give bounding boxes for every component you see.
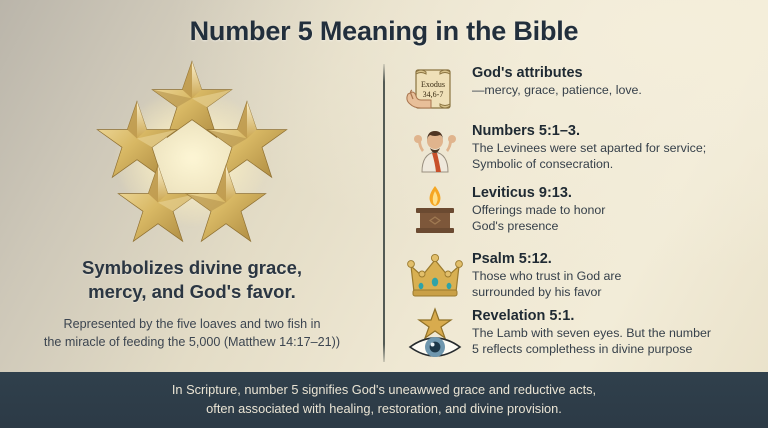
footer-text: In Scripture, number 5 signifies God's u… bbox=[112, 381, 656, 418]
left-caption-main: Symbolizes divine grace, mercy, and God'… bbox=[18, 256, 366, 305]
left-caption-sub: Represented by the five loaves and two f… bbox=[14, 316, 370, 352]
hand-holding-scroll-icon: Exodus 34,6-7 bbox=[404, 64, 466, 118]
star-over-eye-icon bbox=[404, 307, 466, 361]
svg-text:34,6-7: 34,6-7 bbox=[423, 90, 444, 99]
entry-desc: Offerings made to honor God's presence bbox=[472, 203, 605, 235]
entry-text: Revelation 5:1. The Lamb with seven eyes… bbox=[472, 307, 711, 358]
entry-desc: Those who trust in God are surrounded by… bbox=[472, 269, 621, 301]
list-item: Psalm 5:12. Those who trust in God are s… bbox=[404, 250, 621, 304]
robed-figure-raised-hands-icon bbox=[404, 122, 466, 176]
left-column: Symbolizes divine grace, mercy, and God'… bbox=[0, 58, 383, 363]
entry-title: Revelation 5:1. bbox=[472, 308, 711, 325]
star-lower-right bbox=[181, 162, 269, 250]
entry-title: God's attributes bbox=[472, 65, 642, 82]
entry-text: Numbers 5:1–3. The Levinees were set apa… bbox=[472, 122, 706, 173]
footer-banner: In Scripture, number 5 signifies God's u… bbox=[0, 372, 768, 428]
infographic-canvas: Number 5 Meaning in the Bible bbox=[0, 0, 768, 428]
list-item: Revelation 5:1. The Lamb with seven eyes… bbox=[404, 307, 711, 361]
entry-title: Numbers 5:1–3. bbox=[472, 123, 706, 140]
svg-text:Exodus: Exodus bbox=[421, 80, 445, 89]
list-item: Exodus 34,6-7 God's attributes —mercy, g… bbox=[404, 64, 642, 118]
altar-with-flame-icon bbox=[404, 184, 466, 238]
page-title: Number 5 Meaning in the Bible bbox=[0, 16, 768, 47]
entry-title: Psalm 5:12. bbox=[472, 251, 621, 268]
list-item: Numbers 5:1–3. The Levinees were set apa… bbox=[404, 122, 706, 176]
entry-desc: —mercy, grace, patience, love. bbox=[472, 83, 642, 99]
entry-desc: The Levinees were set aparted for servic… bbox=[472, 141, 706, 173]
column-divider bbox=[383, 64, 385, 362]
list-item: Leviticus 9:13. Offerings made to honor … bbox=[404, 184, 605, 238]
entry-title: Leviticus 9:13. bbox=[472, 185, 605, 202]
entry-text: Psalm 5:12. Those who trust in God are s… bbox=[472, 250, 621, 301]
entry-text: God's attributes —mercy, grace, patience… bbox=[472, 64, 642, 99]
entry-text: Leviticus 9:13. Offerings made to honor … bbox=[472, 184, 605, 235]
entry-desc: The Lamb with seven eyes. But the number… bbox=[472, 326, 711, 358]
five-gold-stars-pentagram-icon bbox=[87, 72, 297, 244]
gold-crown-icon bbox=[404, 250, 466, 304]
